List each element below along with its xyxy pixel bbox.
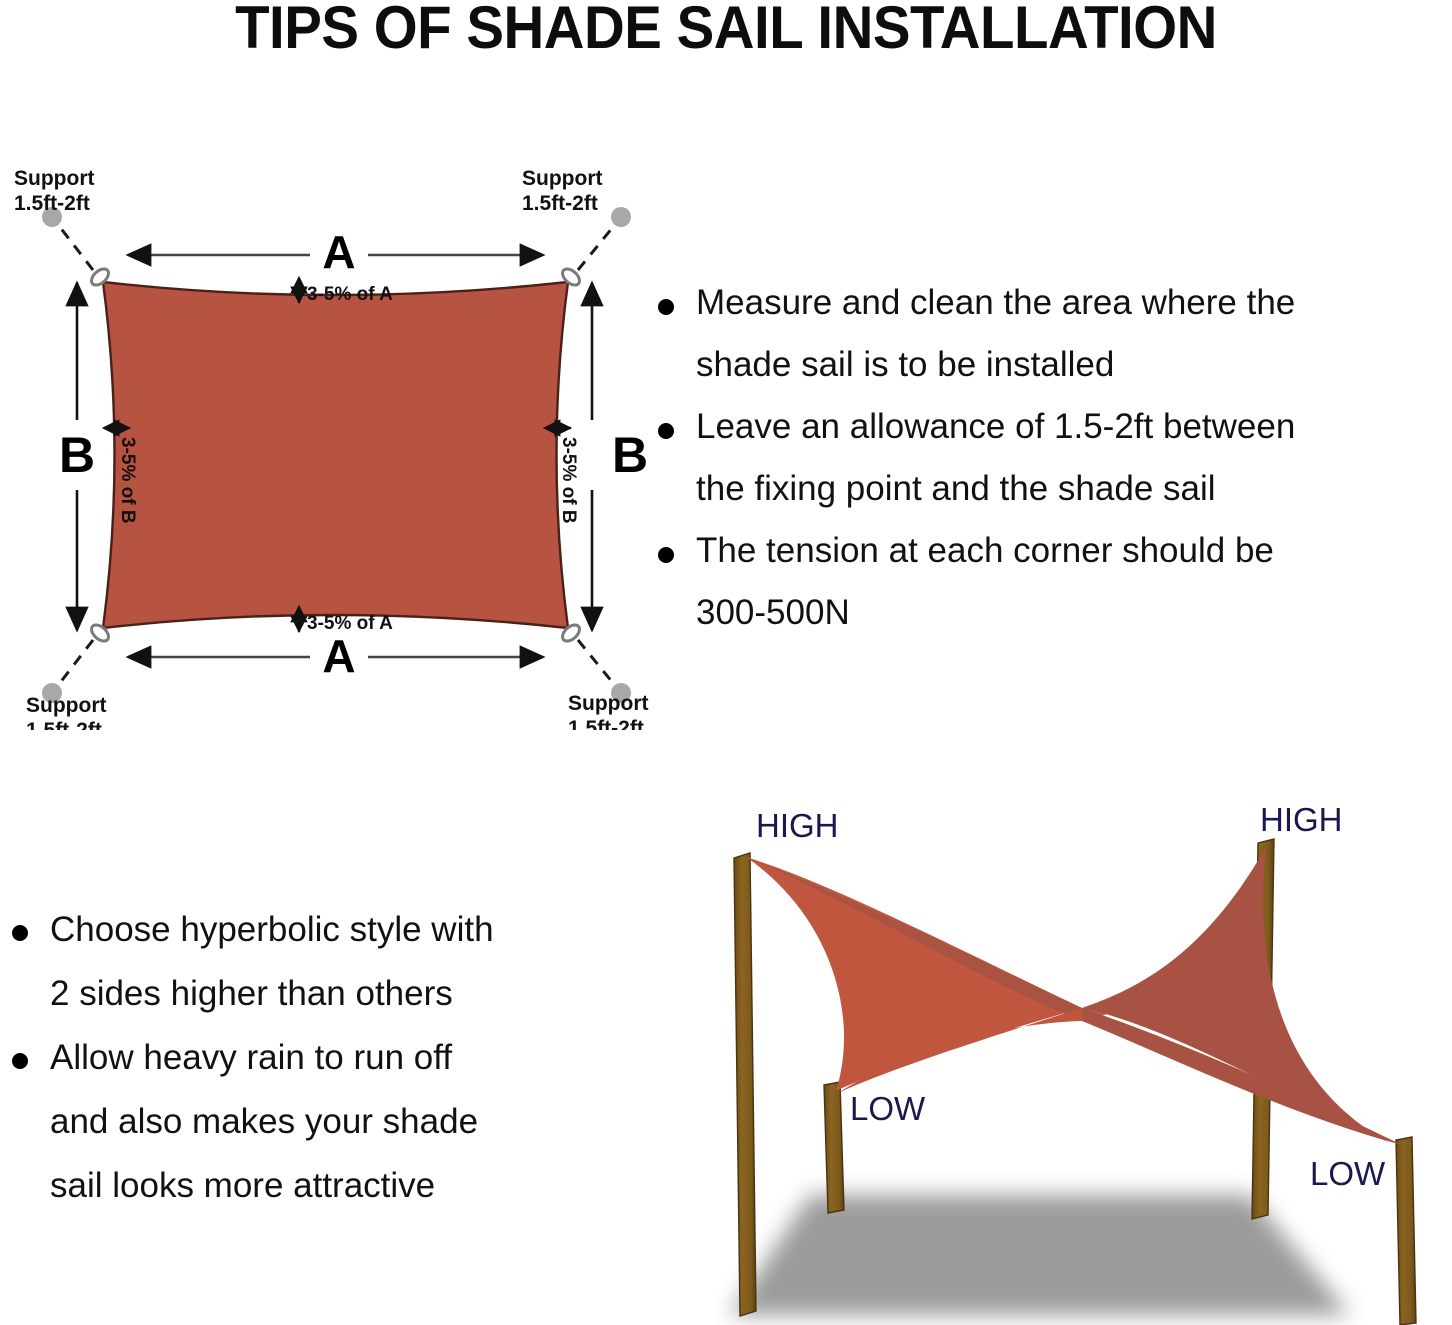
curve-label-top: 3-5% of A	[299, 278, 393, 305]
support-label-line1: Support	[522, 167, 602, 190]
rectangular-sail-diagram: Support 1.5ft-2ft Support 1.5ft-2ft Supp…	[0, 160, 660, 730]
list-item: Allow heavy rain to run off and also mak…	[4, 1026, 624, 1218]
curve-label-left-text: 3-5% of B	[117, 437, 138, 524]
support-label-line2: 1.5ft-2ft	[14, 192, 90, 215]
tip-line: 2 sides higher than others	[50, 962, 624, 1026]
tip-line: shade sail is to be installed	[696, 334, 1452, 396]
list-item: Measure and clean the area where the sha…	[650, 272, 1452, 396]
label-high-right: HIGH	[1260, 801, 1343, 838]
support-label-bottom-right: Support 1.5ft-2ft	[568, 692, 648, 730]
label-high-left: HIGH	[756, 807, 839, 844]
tip-line: 300-500N	[696, 582, 1452, 644]
support-label-line1: Support	[14, 167, 94, 190]
tips-list-right: Measure and clean the area where the sha…	[650, 272, 1452, 644]
support-label-line1: Support	[568, 692, 648, 715]
label-low-left: LOW	[850, 1090, 926, 1127]
tip-line: sail looks more attractive	[50, 1154, 624, 1218]
support-label-bottom-left: Support 1.5ft-2ft	[26, 694, 106, 730]
list-item: Choose hyperbolic style with 2 sides hig…	[4, 898, 624, 1026]
support-label-line2: 1.5ft-2ft	[26, 719, 102, 730]
support-label-top-right: Support 1.5ft-2ft	[522, 167, 602, 215]
dimension-b-left: B	[59, 283, 95, 630]
support-label-line2: 1.5ft-2ft	[522, 192, 598, 215]
label-low-right: LOW	[1310, 1155, 1386, 1192]
dimension-label-a-bottom: A	[322, 630, 355, 682]
tip-line: Choose hyperbolic style with	[50, 898, 624, 962]
dimension-label-b-left: B	[59, 427, 95, 483]
post-high-left	[734, 853, 756, 1316]
dimension-a-top: A	[128, 226, 543, 278]
curve-label-right-text: 3-5% of B	[558, 437, 579, 524]
tip-line: the fixing point and the shade sail	[696, 458, 1452, 520]
dimension-a-bottom: A	[128, 630, 543, 682]
dimension-label-a-top: A	[322, 226, 355, 278]
dimension-b-right: B	[592, 283, 648, 630]
support-label-line1: Support	[26, 694, 106, 717]
list-item: The tension at each corner should be 300…	[650, 520, 1452, 644]
tip-line: Allow heavy rain to run off	[50, 1026, 624, 1090]
dimension-label-b-right: B	[612, 427, 648, 483]
tip-line: and also makes your shade	[50, 1090, 624, 1154]
sail-shape	[103, 282, 568, 628]
hyperbolic-sail-diagram: HIGH HIGH LOW LOW	[690, 795, 1452, 1325]
curve-label-top-text: 3-5% of A	[307, 284, 393, 305]
tip-line: The tension at each corner should be	[696, 520, 1452, 582]
tip-line: Measure and clean the area where the	[696, 272, 1452, 334]
list-item: Leave an allowance of 1.5-2ft between th…	[650, 396, 1452, 520]
post-low-left	[824, 1082, 844, 1213]
support-label-line2: 1.5ft-2ft	[568, 717, 644, 730]
tips-list-left: Choose hyperbolic style with 2 sides hig…	[4, 898, 624, 1218]
tip-line: Leave an allowance of 1.5-2ft between	[696, 396, 1452, 458]
support-label-top-left: Support 1.5ft-2ft	[14, 167, 94, 215]
post-low-right	[1396, 1137, 1416, 1325]
curve-label-left: 3-5% of B	[104, 428, 138, 524]
page-title: TIPS OF SHADE SAIL INSTALLATION	[44, 0, 1409, 60]
curve-label-bottom-text: 3-5% of A	[307, 613, 393, 634]
